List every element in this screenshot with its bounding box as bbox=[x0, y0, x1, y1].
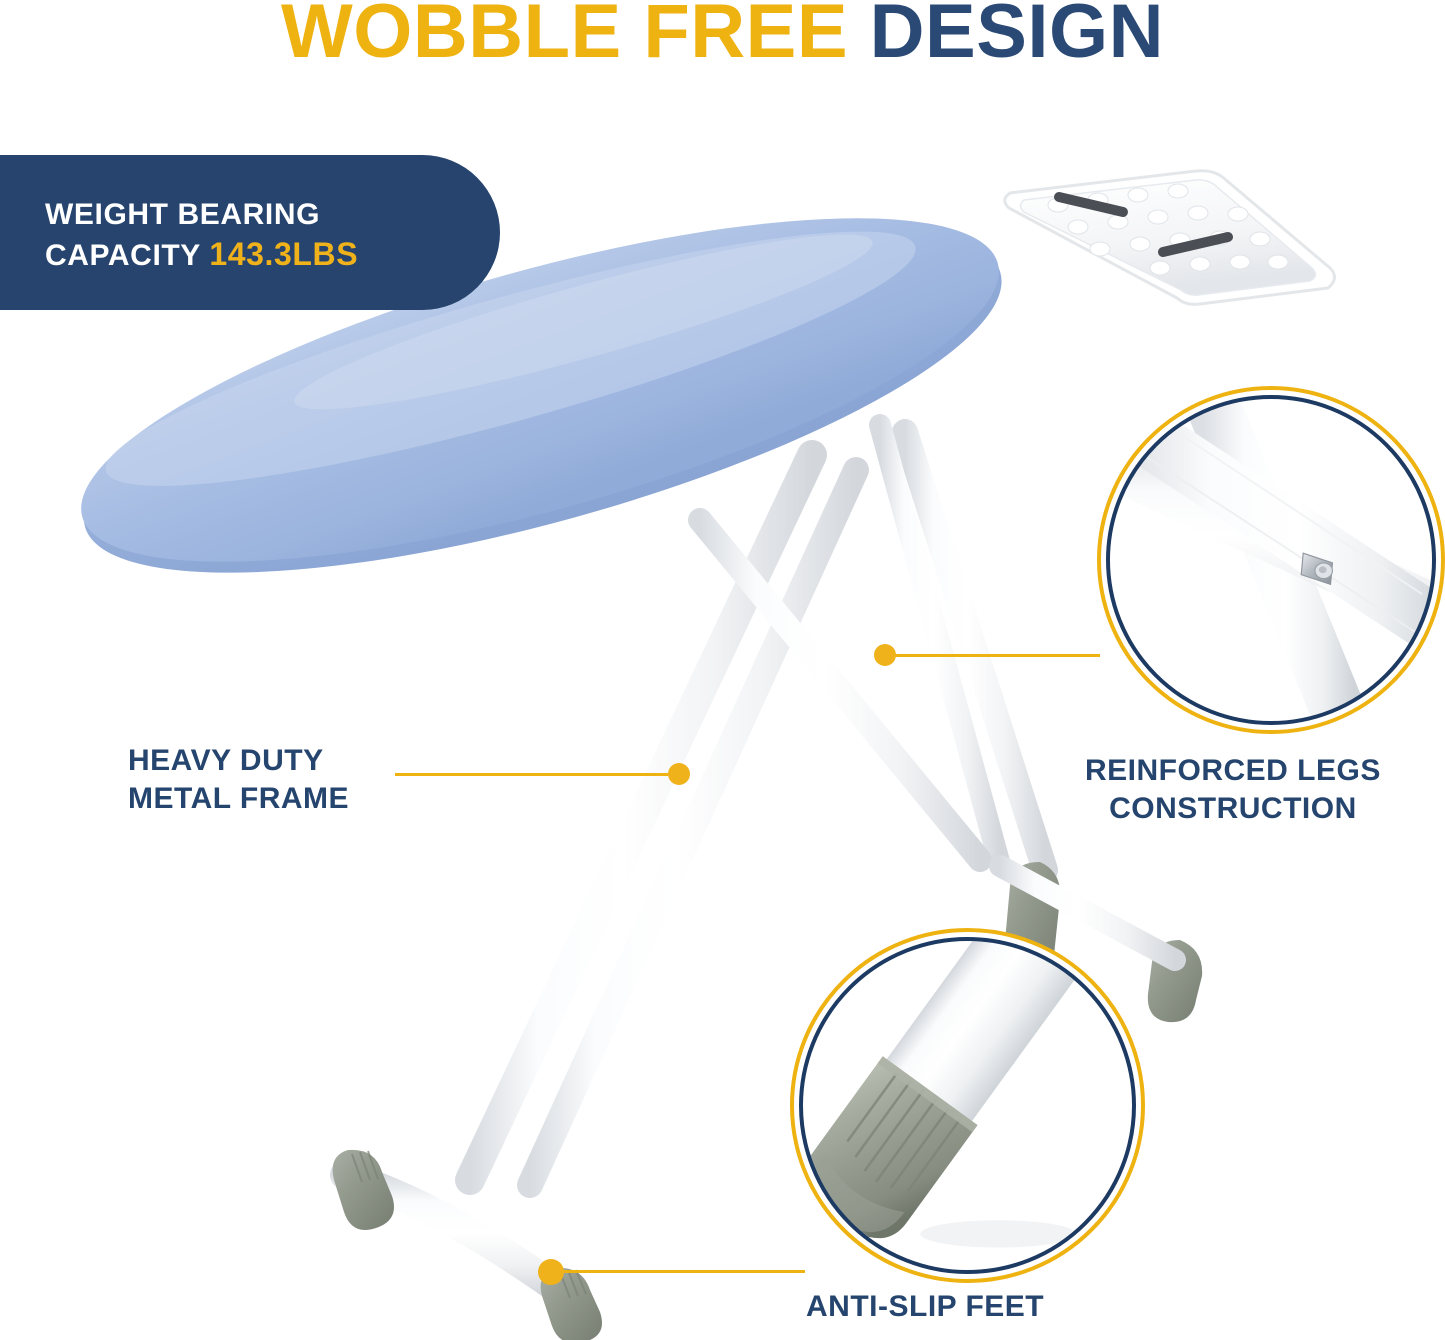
callout-reinforced-legs-line2: CONSTRUCTION bbox=[1085, 790, 1381, 828]
infographic-canvas: WOBBLE FREE DESIGN bbox=[0, 0, 1445, 1340]
page-title-secondary: DESIGN bbox=[870, 0, 1164, 74]
weight-capacity-badge: WEIGHT BEARING CAPACITY 143.3LBS bbox=[0, 155, 500, 310]
callout-reinforced-legs-line1: REINFORCED LEGS bbox=[1085, 752, 1381, 790]
callout-label-anti-slip-feet: ANTI-SLIP FEET bbox=[806, 1288, 1044, 1326]
connector-dot-anti-slip bbox=[538, 1259, 564, 1285]
floor-crossbar bbox=[333, 1150, 602, 1340]
callout-heavy-duty-line2: METAL FRAME bbox=[128, 780, 349, 818]
connector-dot-reinforced-legs bbox=[874, 644, 896, 666]
zoom-callout-reinforced-legs bbox=[1097, 386, 1445, 734]
weight-badge-line1: WEIGHT BEARING bbox=[45, 195, 500, 234]
zoom-callout-image-legs bbox=[1110, 399, 1432, 721]
weight-badge-line2: CAPACITY 143.3LBS bbox=[45, 234, 500, 276]
zoom-callout-anti-slip-feet bbox=[790, 928, 1145, 1283]
legs-closeup-art bbox=[1110, 399, 1432, 721]
connector-line-reinforced-legs bbox=[885, 654, 1100, 657]
connector-dot-heavy-duty bbox=[668, 763, 690, 785]
iron-rest-tray bbox=[1005, 171, 1335, 305]
iron-rest-rail bbox=[1059, 197, 1228, 252]
connector-line-anti-slip bbox=[560, 1270, 805, 1273]
callout-heavy-duty-line1: HEAVY DUTY bbox=[128, 742, 349, 780]
weight-badge-prefix: CAPACITY bbox=[45, 239, 209, 272]
page-title-primary: WOBBLE FREE bbox=[281, 0, 870, 74]
weight-badge-value: 143.3LBS bbox=[209, 236, 358, 272]
callout-anti-slip-line1: ANTI-SLIP FEET bbox=[806, 1288, 1044, 1326]
callout-label-heavy-duty: HEAVY DUTY METAL FRAME bbox=[128, 742, 349, 819]
callout-label-reinforced-legs: REINFORCED LEGS CONSTRUCTION bbox=[1085, 752, 1381, 829]
page-title: WOBBLE FREE DESIGN bbox=[0, 0, 1445, 70]
leg-frame-back bbox=[880, 425, 1045, 870]
foot-closeup-art bbox=[803, 941, 1132, 1270]
connector-line-heavy-duty bbox=[395, 773, 680, 776]
zoom-callout-image-feet bbox=[803, 941, 1132, 1270]
